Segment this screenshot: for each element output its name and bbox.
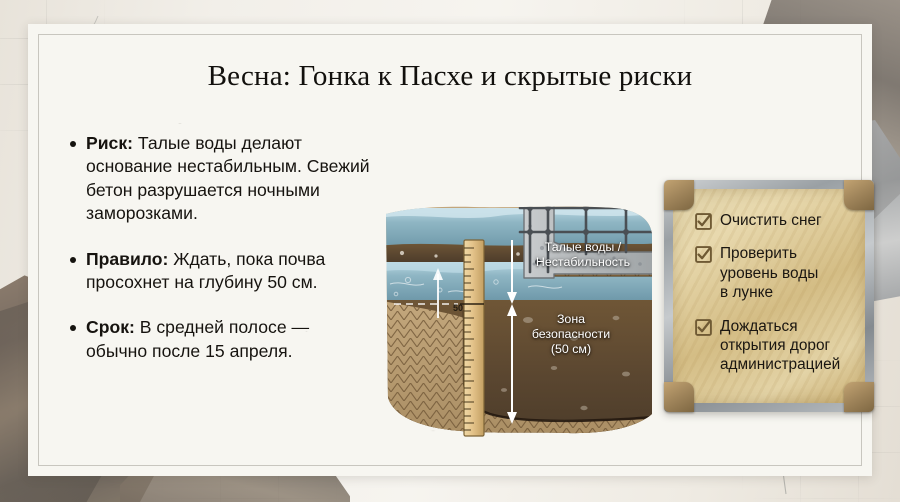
checkbox-checked-icon[interactable] — [695, 246, 712, 263]
checklist-item-clear-snow[interactable]: Очистить снег — [695, 211, 851, 230]
bullet-dot-icon — [70, 257, 76, 263]
bullet-lead-deadline: Срок: — [86, 317, 135, 337]
ruler-tick-50-label: 50 — [453, 303, 463, 313]
bullet-text-rule: Правило: Ждать, пока почва просохнет на … — [86, 248, 370, 295]
bullet-dot-icon — [70, 141, 76, 147]
bullet-lead-rule: Правило: — [86, 249, 168, 269]
checklist-items: Очистить снег Проверить уровень воды в л… — [695, 211, 851, 389]
checklist-item-check-water-level[interactable]: Проверить уровень воды в лунке — [695, 244, 851, 302]
checklist-label-wait-road-opening: Дождаться открытия дорог администрацией — [720, 317, 840, 375]
page-title: Весна: Гонка к Пасхе и скрытые риски — [28, 60, 872, 93]
slide-root: Весна: Гонка к Пасхе и скрытые риски Рис… — [0, 0, 900, 502]
bullet-text-risk: Риск: Талые воды делают основание нестаб… — [86, 132, 370, 226]
sign-corner-top-right-icon — [844, 180, 874, 210]
bullet-item-risk: Риск: Талые воды делают основание нестаб… — [70, 132, 370, 226]
sign-parchment-face: Очистить снег Проверить уровень воды в л… — [673, 189, 865, 403]
sign-corner-bottom-left-icon — [664, 382, 694, 412]
cross-section-svg — [378, 122, 660, 442]
bullet-text-deadline: Срок: В средней полосе — обычно после 15… — [86, 316, 370, 363]
depth-ruler-icon — [460, 240, 484, 436]
checklist-sign: Очистить снег Проверить уровень воды в л… — [664, 180, 874, 412]
cross-section-illustration: 50 Талые воды / Нестабильность Зона безо… — [378, 122, 660, 442]
sign-corner-bottom-right-icon — [844, 382, 874, 412]
checkbox-checked-icon[interactable] — [695, 319, 712, 336]
bullet-lead-risk: Риск: — [86, 133, 133, 153]
bullet-dot-icon — [70, 325, 76, 331]
checklist-label-check-water-level: Проверить уровень воды в лунке — [720, 244, 818, 302]
sign-corner-top-left-icon — [664, 180, 694, 210]
main-card: Весна: Гонка к Пасхе и скрытые риски Рис… — [28, 24, 872, 476]
bullet-list: Риск: Талые воды делают основание нестаб… — [70, 132, 370, 385]
checkbox-checked-icon[interactable] — [695, 213, 712, 230]
checklist-label-clear-snow: Очистить снег — [720, 211, 822, 230]
bullet-item-rule: Правило: Ждать, пока почва просохнет на … — [70, 248, 370, 295]
bullet-item-deadline: Срок: В средней полосе — обычно после 15… — [70, 316, 370, 363]
checklist-item-wait-road-opening[interactable]: Дождаться открытия дорог администрацией — [695, 317, 851, 375]
